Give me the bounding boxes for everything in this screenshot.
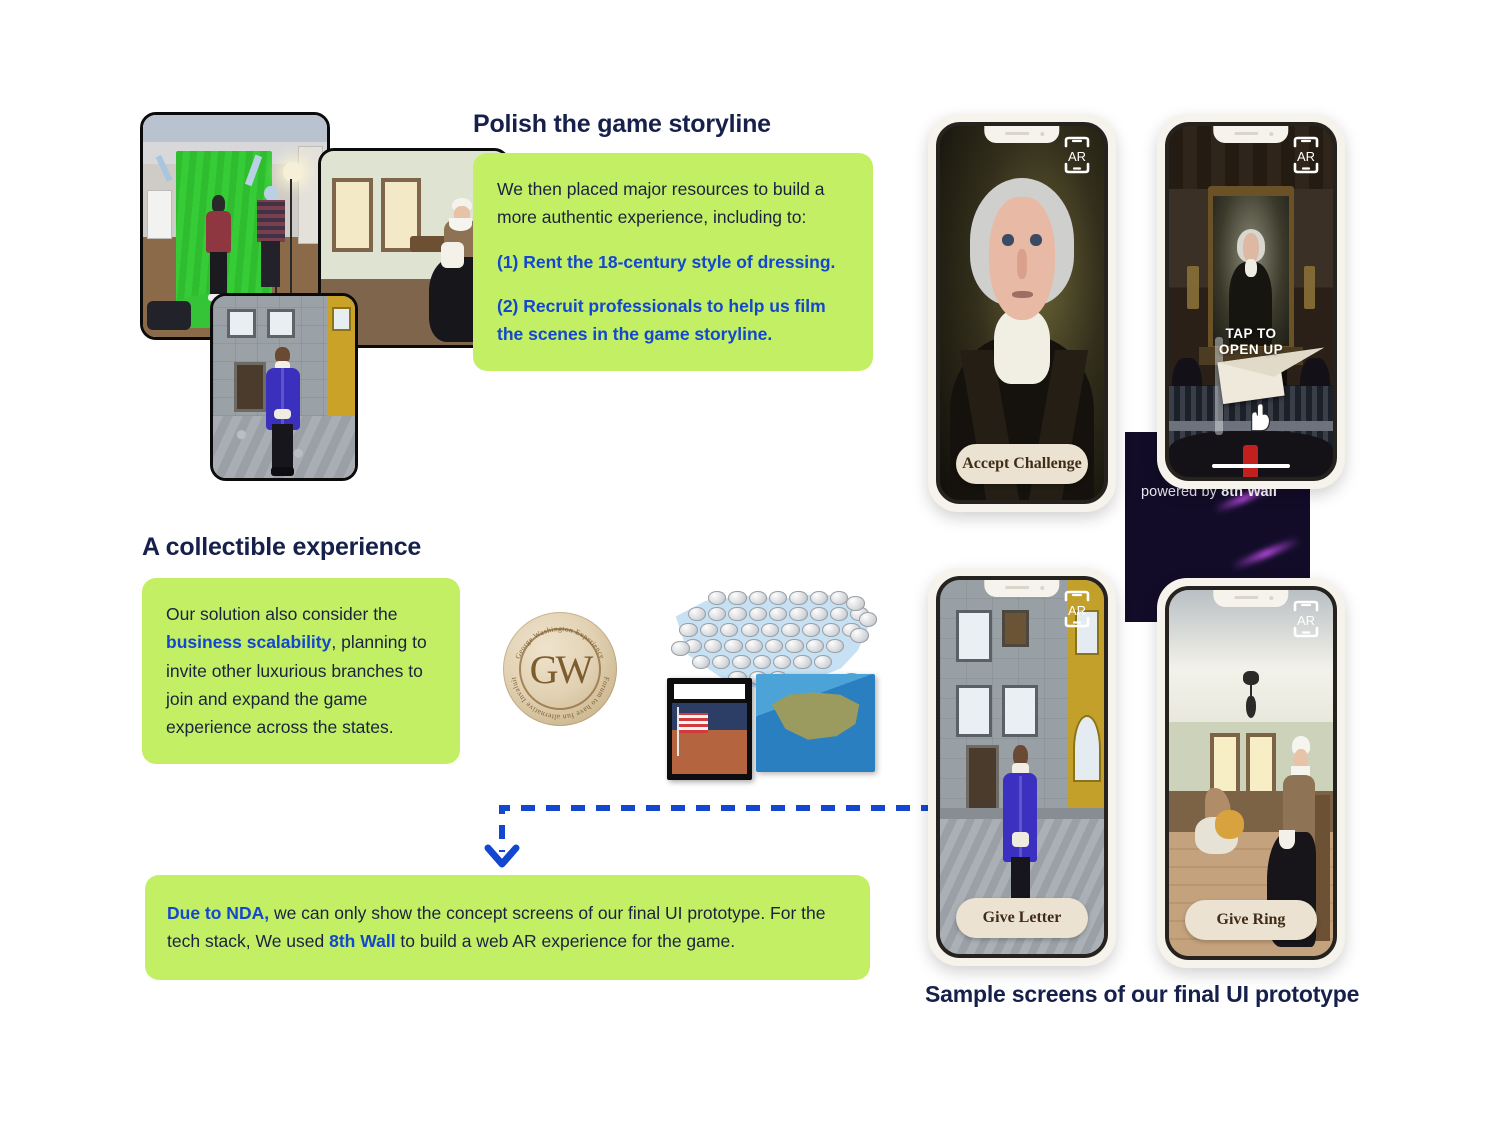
svg-text:AR: AR [1297, 613, 1315, 628]
quarter-coin [741, 623, 759, 638]
quarter-coin [826, 639, 844, 654]
collectible-text-part-0: Our solution also consider the [166, 604, 398, 624]
quarter-coin [769, 591, 787, 606]
screen-tap-to-open[interactable]: AR TAP TO OPEN UP [1157, 114, 1345, 489]
quarter-coin [724, 639, 742, 654]
svg-text:AR: AR [1068, 149, 1086, 164]
prototype-caption: Sample screens of our final UI prototype [925, 981, 1359, 1008]
quarter-coin [728, 591, 746, 606]
tap-to-open-overlay-text: TAP TO OPEN UP [1169, 326, 1333, 357]
ar-icon[interactable]: AR [1060, 590, 1094, 628]
give-letter-button[interactable]: Give Letter [956, 898, 1087, 938]
ar-icon[interactable]: AR [1289, 136, 1323, 174]
quarter-coin [789, 607, 807, 622]
quarter-coin [692, 655, 710, 670]
give-letter-screen: AR Give Letter [936, 576, 1108, 958]
phone-notch [984, 126, 1059, 143]
screen-accept-challenge[interactable]: AR Accept Challenge [928, 114, 1116, 512]
tap-hand-icon [1241, 386, 1274, 449]
quarter-coin [679, 623, 697, 638]
album-map-artwork [768, 690, 863, 751]
phone-notch [984, 580, 1059, 597]
quarter-coin [749, 591, 767, 606]
collectible-text-part-1: business scalability [166, 632, 331, 652]
quarter-coin [806, 639, 824, 654]
phone-notch [1213, 126, 1288, 143]
collectible-paragraph: Our solution also consider the business … [166, 600, 436, 742]
ar-icon[interactable]: AR [1289, 600, 1323, 638]
phone-notch [1213, 590, 1288, 607]
quarter-coin [728, 607, 746, 622]
quarter-coin [830, 607, 848, 622]
coin-monogram: GW [503, 612, 617, 726]
state-quarters-collection [663, 588, 875, 784]
album-flag [679, 713, 708, 733]
home-indicator [1212, 464, 1291, 468]
quarters-album-cover [667, 678, 752, 780]
quarter-coin [814, 655, 832, 670]
quarter-coin [712, 655, 730, 670]
collectible-callout: Our solution also consider the business … [142, 578, 460, 764]
quarter-coin [785, 639, 803, 654]
quarter-coin [745, 639, 763, 654]
quarter-coin [789, 591, 807, 606]
nda-text-part-3: to build a web AR experience for the gam… [396, 931, 736, 951]
quarter-coin [793, 655, 811, 670]
quarter-coin [708, 591, 726, 606]
give-ring-screen: AR Give Ring [1165, 586, 1337, 960]
tap-to-open-screen: AR TAP TO OPEN UP [1165, 122, 1337, 481]
quarter-coin [802, 623, 820, 638]
give-ring-button[interactable]: Give Ring [1185, 900, 1316, 940]
quarter-coin [859, 612, 877, 627]
storyline-callout: We then placed major resources to build … [473, 153, 873, 371]
quarter-coin [765, 639, 783, 654]
quarter-coin [822, 623, 840, 638]
arrow-dashed-path [502, 808, 935, 852]
colonial-man-photo-content [213, 296, 355, 478]
quarters-album-map-page [756, 674, 875, 772]
overlay-line-2: OPEN UP [1169, 342, 1333, 358]
storyline-paragraph-0: We then placed major resources to build … [497, 175, 849, 232]
svg-text:AR: AR [1297, 149, 1315, 164]
accept-challenge-screen: AR Accept Challenge [936, 122, 1108, 504]
accept-challenge-button[interactable]: Accept Challenge [956, 444, 1087, 484]
arrow-head-icon [488, 848, 516, 864]
quarter-coin [773, 655, 791, 670]
slide-canvas: Polish the game storyline We then placed… [0, 0, 1500, 1126]
nda-text-part-0: Due to NDA, [167, 903, 269, 923]
collectible-heading: A collectible experience [142, 533, 421, 562]
nda-text-part-2: 8th Wall [329, 931, 395, 951]
storyline-paragraph-1: (1) Rent the 18-century style of dressin… [497, 248, 849, 276]
dashed-flow-arrow [480, 790, 940, 885]
storyline-heading: Polish the game storyline [473, 110, 771, 139]
quarter-coin [781, 623, 799, 638]
quarter-coin [700, 623, 718, 638]
quarter-coin [846, 596, 864, 611]
overlay-line-1: TAP TO [1169, 326, 1333, 342]
ar-icon[interactable]: AR [1060, 136, 1094, 174]
quarter-coin [810, 591, 828, 606]
quarter-coin [671, 641, 689, 656]
nda-callout: Due to NDA, we can only show the concept… [145, 875, 870, 980]
photo-colonial-man-street [210, 293, 358, 481]
nda-paragraph: Due to NDA, we can only show the concept… [167, 899, 848, 956]
storyline-paragraph-2: (2) Recruit professionals to help us fil… [497, 292, 849, 349]
quarter-coin [769, 607, 787, 622]
album-title-label [674, 684, 745, 698]
screen-give-ring[interactable]: AR Give Ring [1157, 578, 1345, 968]
quarter-coin [704, 639, 722, 654]
parlor-scene [1169, 126, 1333, 477]
quarter-coin [850, 628, 868, 643]
quarter-coin [688, 607, 706, 622]
quarter-coin [753, 655, 771, 670]
quarter-coin [708, 607, 726, 622]
quarter-coin [761, 623, 779, 638]
banner-glow-streak-2 [1230, 536, 1301, 570]
quarter-coin [720, 623, 738, 638]
quarter-coin [749, 607, 767, 622]
quarter-coin [732, 655, 750, 670]
george-washington-wooden-coin: George Washington Experience Forum to ha… [503, 612, 617, 726]
svg-text:AR: AR [1068, 603, 1086, 618]
screen-give-letter[interactable]: AR Give Letter [928, 568, 1116, 966]
quarter-coin [810, 607, 828, 622]
